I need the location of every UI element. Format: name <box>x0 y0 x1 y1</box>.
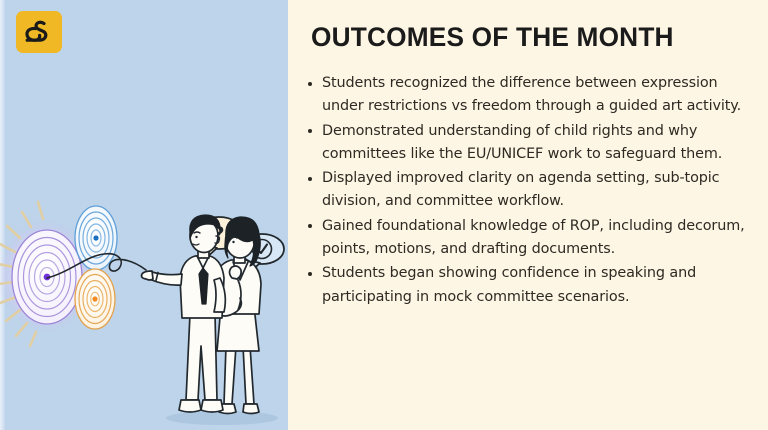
list-item: Students recognized the difference betwe… <box>304 72 752 119</box>
organization-logo <box>16 11 62 53</box>
list-item: Gained foundational knowledge of ROP, in… <box>304 215 752 262</box>
list-item-text: Gained foundational knowledge of ROP, in… <box>322 218 745 257</box>
outcomes-list: Students recognized the difference betwe… <box>304 72 752 310</box>
right-content-panel: OUTCOMES OF THE MONTH Students recognize… <box>288 0 768 430</box>
target-purple <box>12 230 82 324</box>
list-item-text: Displayed improved clarity on agenda set… <box>322 170 719 209</box>
figure-man-pointing <box>142 215 226 412</box>
list-item-text: Demonstrated understanding of child righ… <box>322 123 722 162</box>
list-item-text: Students began showing confidence in spe… <box>322 265 696 304</box>
bullet-dot-icon <box>308 177 312 181</box>
illustration-group: ? <box>0 186 288 430</box>
bullet-dot-icon <box>308 224 312 228</box>
left-illustration-panel: ? <box>0 0 288 430</box>
page-title: OUTCOMES OF THE MONTH <box>311 22 674 53</box>
target-orange <box>75 269 115 329</box>
bullet-dot-icon <box>308 129 312 133</box>
list-item: Demonstrated understanding of child righ… <box>304 120 752 167</box>
list-item-text: Students recognized the difference betwe… <box>322 75 741 114</box>
slide-canvas: ? <box>0 0 768 430</box>
logo-glyph-icon <box>22 17 56 47</box>
illustration-svg: ? <box>0 186 288 430</box>
bullet-dot-icon <box>308 272 312 276</box>
bullet-dot-icon <box>308 82 312 86</box>
list-item: Students began showing confidence in spe… <box>304 262 752 309</box>
target-blue <box>75 206 117 270</box>
list-item: Displayed improved clarity on agenda set… <box>304 167 752 214</box>
